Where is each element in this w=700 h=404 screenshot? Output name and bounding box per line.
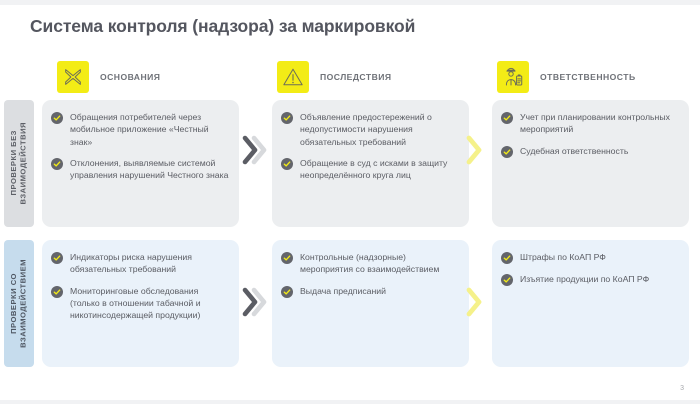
list-item: Индикаторы риска нарушения обязательных …	[51, 251, 230, 276]
row-label-proverki-bez-vzaimodeystviya: ПРОВЕРКИ БЕЗ ВЗАИМОДЕЙСТВИЯ	[4, 100, 34, 227]
bullet-list: Обращения потребителей через мобильное п…	[51, 111, 230, 182]
chevron-right-icon-row1-2	[461, 133, 489, 167]
check-icon	[281, 112, 293, 124]
row-label-text: ПРОВЕРКИ БЕЗ ВЗАИМОДЕЙСТВИЯ	[9, 122, 28, 204]
list-item: Обращение в суд с исками в защиту неопре…	[281, 157, 460, 182]
row-label-proverki-so-vzaimodeystviem: ПРОВЕРКИ СО ВЗАИМОДЕЙСТВИЕМ	[4, 240, 34, 367]
list-item-text: Выдача предписаний	[300, 285, 386, 297]
cross-x-icon	[57, 61, 89, 93]
list-item: Мониторинговые обследования (только в от…	[51, 285, 230, 322]
column-header-otvetstvennost: ОТВЕТСТВЕННОСТЬ	[497, 60, 636, 94]
chevron-right-icon-row2-1	[241, 285, 269, 319]
list-item: Контрольные (надзорные) мероприятия со в…	[281, 251, 460, 276]
page-number: 3	[680, 385, 684, 392]
column-header-label: ПОСЛЕДСТВИЯ	[320, 72, 392, 82]
top-edge-strip	[0, 0, 700, 5]
card-row2-posledstviya: Контрольные (надзорные) мероприятия со в…	[272, 240, 469, 367]
check-icon	[281, 252, 293, 264]
list-item-text: Штрафы по КоАП РФ	[520, 251, 606, 263]
list-item-text: Индикаторы риска нарушения обязательных …	[70, 251, 230, 276]
check-icon	[51, 112, 63, 124]
column-header-osnovaniya: ОСНОВАНИЯ	[57, 60, 160, 94]
column-header-label: ОТВЕТСТВЕННОСТЬ	[540, 72, 636, 82]
inspector-clipboard-icon	[497, 61, 529, 93]
list-item: Изъятие продукции по КоАП РФ	[501, 273, 680, 286]
chevron-right-icon-row1-1	[241, 133, 269, 167]
list-item-text: Обращения потребителей через мобильное п…	[70, 111, 230, 148]
card-row1-posledstviya: Объявление предостережений о недопустимо…	[272, 100, 469, 227]
card-row2-osnovaniya: Индикаторы риска нарушения обязательных …	[42, 240, 239, 367]
bullet-list: Объявление предостережений о недопустимо…	[281, 111, 460, 182]
check-icon	[501, 112, 513, 124]
bullet-list: Учет при планировании контрольных меропр…	[501, 111, 680, 158]
chevron-right-icon-row2-2	[461, 285, 489, 319]
list-item-text: Отклонения, выявляемые системой управлен…	[70, 157, 230, 182]
card-row1-osnovaniya: Обращения потребителей через мобильное п…	[42, 100, 239, 227]
check-icon	[501, 274, 513, 286]
list-item-text: Обращение в суд с исками в защиту неопре…	[300, 157, 460, 182]
list-item: Обращения потребителей через мобильное п…	[51, 111, 230, 148]
list-item: Судебная ответственность	[501, 145, 680, 158]
list-item: Объявление предостережений о недопустимо…	[281, 111, 460, 148]
list-item-text: Изъятие продукции по КоАП РФ	[520, 273, 649, 285]
column-header-label: ОСНОВАНИЯ	[100, 72, 160, 82]
page-title: Система контроля (надзора) за маркировко…	[30, 16, 415, 37]
bullet-list: Штрафы по КоАП РФ Изъятие продукции по К…	[501, 251, 680, 286]
row-label-text: ПРОВЕРКИ СО ВЗАИМОДЕЙСТВИЕМ	[9, 259, 28, 348]
slide-canvas: Система контроля (надзора) за маркировко…	[0, 0, 700, 404]
check-icon	[501, 146, 513, 158]
card-row2-otvetstvennost: Штрафы по КоАП РФ Изъятие продукции по К…	[492, 240, 689, 367]
list-item-text: Объявление предостережений о недопустимо…	[300, 111, 460, 148]
list-item: Штрафы по КоАП РФ	[501, 251, 680, 264]
bullet-list: Контрольные (надзорные) мероприятия со в…	[281, 251, 460, 298]
check-icon	[51, 252, 63, 264]
list-item-text: Мониторинговые обследования (только в от…	[70, 285, 230, 322]
check-icon	[51, 286, 63, 298]
list-item: Выдача предписаний	[281, 285, 460, 298]
check-icon	[281, 158, 293, 170]
card-row1-otvetstvennost: Учет при планировании контрольных меропр…	[492, 100, 689, 227]
warning-triangle-icon	[277, 61, 309, 93]
check-icon	[281, 286, 293, 298]
check-icon	[51, 158, 63, 170]
bottom-edge-strip	[0, 400, 700, 404]
column-header-posledstviya: ПОСЛЕДСТВИЯ	[277, 60, 392, 94]
list-item: Учет при планировании контрольных меропр…	[501, 111, 680, 136]
list-item-text: Учет при планировании контрольных меропр…	[520, 111, 680, 136]
list-item-text: Судебная ответственность	[520, 145, 628, 157]
bullet-list: Индикаторы риска нарушения обязательных …	[51, 251, 230, 322]
check-icon	[501, 252, 513, 264]
list-item: Отклонения, выявляемые системой управлен…	[51, 157, 230, 182]
list-item-text: Контрольные (надзорные) мероприятия со в…	[300, 251, 460, 276]
